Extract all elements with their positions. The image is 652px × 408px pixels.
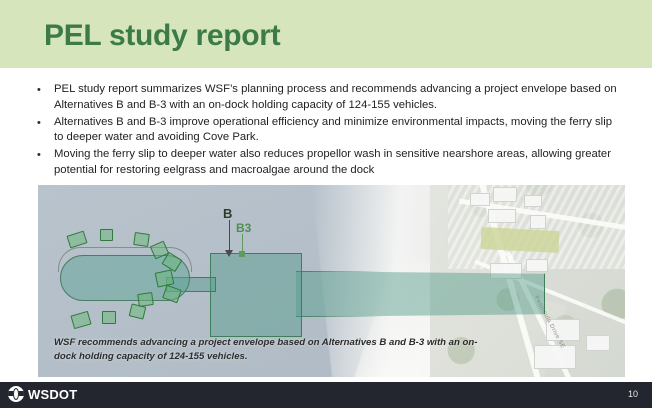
bullet-list: • PEL study report summarizes WSF’s plan… [34,82,624,180]
bullet-text: Alternatives B and B-3 improve operation… [54,115,624,147]
list-item: • Alternatives B and B-3 improve operati… [34,115,624,147]
callout-leader-b [229,220,230,252]
bullet-marker-icon: • [34,115,54,131]
list-item: • PEL study report summarizes WSF’s plan… [34,82,624,114]
map-building [493,187,517,202]
map-building [470,193,490,206]
bullet-text: Moving the ferry slip to deeper water al… [54,147,624,179]
bullet-text: PEL study report summarizes WSF’s planni… [54,82,624,114]
aerial-map-figure: Peninsula Drive SE WSF recommends advanc… [38,185,625,377]
wsdot-emblem-icon [8,386,24,402]
page-number: 10 [628,389,638,399]
map-building [524,195,542,207]
map-building [526,259,548,272]
callout-marker-b3-icon [239,251,245,257]
list-item: • Moving the ferry slip to deeper water … [34,147,624,179]
piling-marker [133,232,150,247]
project-envelope-trestle [296,271,545,317]
bullet-marker-icon: • [34,147,54,163]
piling-marker [102,311,116,324]
callout-label-b: B [223,206,232,221]
bullet-marker-icon: • [34,82,54,98]
page-title: PEL study report [44,19,280,53]
wsdot-logo: WSDOT [8,386,77,402]
map-building [488,209,516,223]
figure-caption: WSF recommends advancing a project envel… [54,336,484,364]
callout-label-b3: B3 [236,221,251,235]
callout-arrow-b-icon [225,250,233,257]
map-building [586,335,610,351]
map-park-patch [480,227,559,253]
project-envelope-dock [210,253,302,337]
piling-marker [100,229,113,241]
map-building [530,215,546,229]
map-building [534,345,576,369]
slide-footer: WSDOT 10 [0,382,652,408]
wsdot-logo-text: WSDOT [28,387,77,402]
